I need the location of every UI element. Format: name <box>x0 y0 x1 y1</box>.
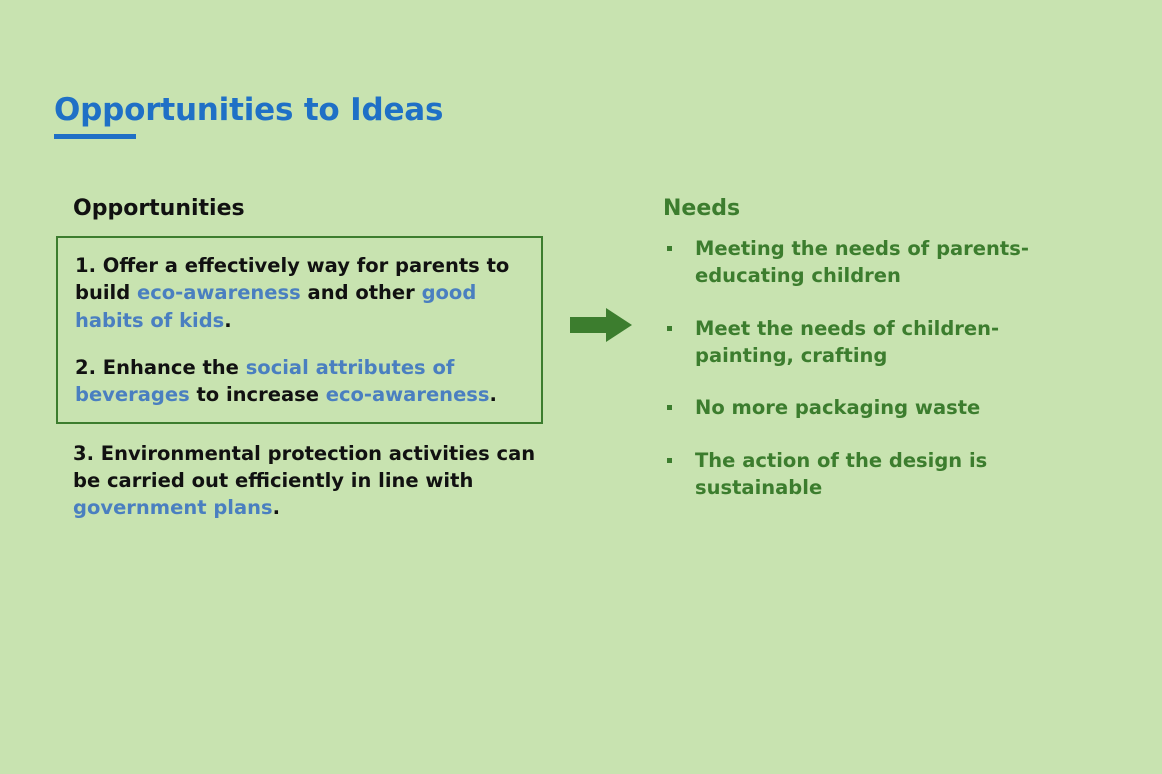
opportunities-heading: Opportunities <box>56 196 556 222</box>
opportunity-item-3: 3. Environmental protection activities c… <box>73 440 543 521</box>
needs-column: Needs Meeting the needs of parents-educa… <box>663 196 1083 501</box>
needs-list: Meeting the needs of parents-educating c… <box>663 236 1083 501</box>
bullet-icon <box>667 246 672 251</box>
title-underline <box>54 134 136 139</box>
needs-item-text: Meet the needs of children-painting, cra… <box>695 316 1083 369</box>
list-item: The action of the design is sustainable <box>663 448 1083 501</box>
needs-item-text: Meeting the needs of parents-educating c… <box>695 236 1083 289</box>
opportunities-column: Opportunities 1. Offer a effectively way… <box>56 196 556 521</box>
bullet-icon <box>667 458 672 463</box>
list-item: Meeting the needs of parents-educating c… <box>663 236 1083 289</box>
list-item: Meet the needs of children-painting, cra… <box>663 316 1083 369</box>
bullet-icon <box>667 405 672 410</box>
needs-heading: Needs <box>663 196 1083 222</box>
opportunities-box: 1. Offer a effectively way for parents t… <box>56 236 543 423</box>
needs-item-text: The action of the design is sustainable <box>695 448 1083 501</box>
slide-title-block: Opportunities to Ideas <box>54 94 443 139</box>
bullet-icon <box>667 326 672 331</box>
opportunity-item-2: 2. Enhance the social attributes of beve… <box>75 354 525 408</box>
list-item: No more packaging waste <box>663 395 1083 422</box>
opportunity-item-1: 1. Offer a effectively way for parents t… <box>75 252 525 333</box>
needs-item-text: No more packaging waste <box>695 395 980 422</box>
right-arrow-icon <box>570 308 632 342</box>
page-title: Opportunities to Ideas <box>54 94 443 127</box>
opportunities-extra: 3. Environmental protection activities c… <box>56 440 543 521</box>
